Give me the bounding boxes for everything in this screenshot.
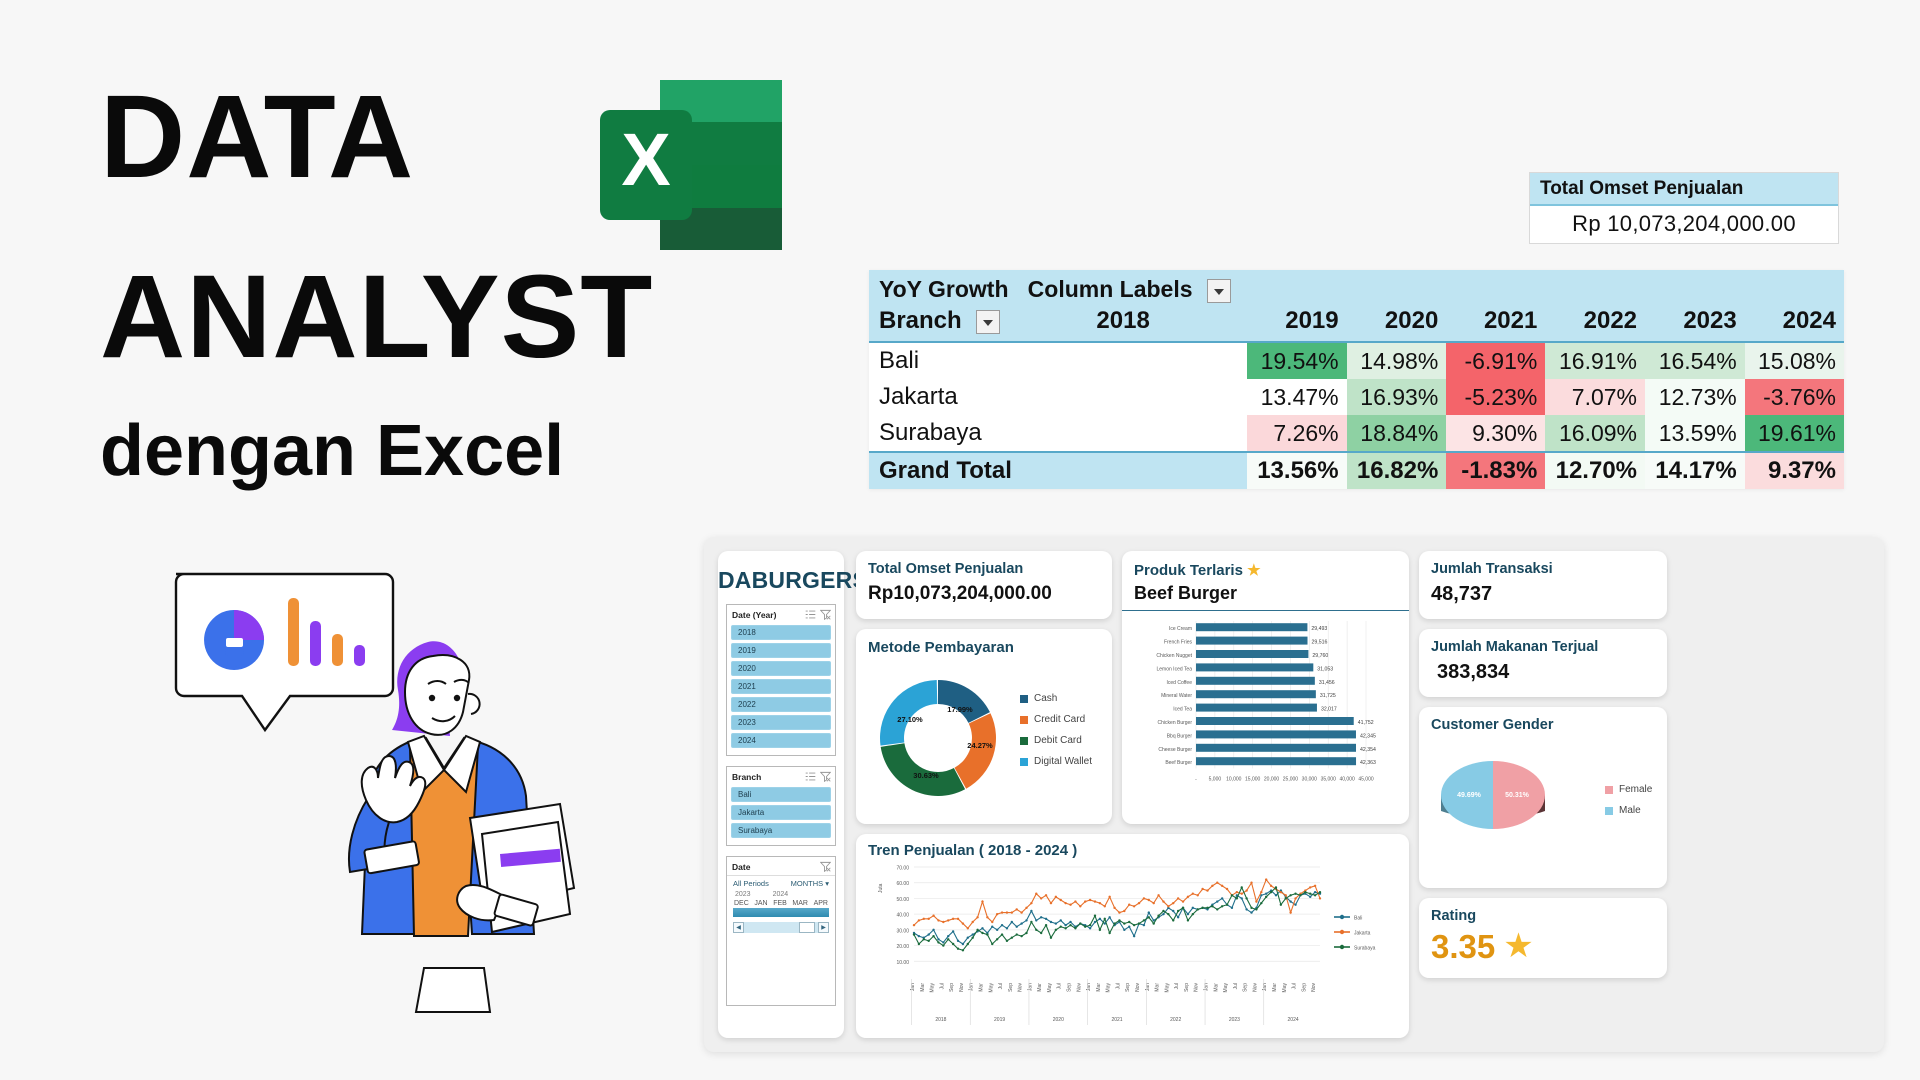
x-month-label: Jan xyxy=(910,983,916,991)
pivot-value-cell: 18.84% xyxy=(1347,415,1447,452)
x-month-label: Sep xyxy=(1008,983,1014,992)
x-month-label: Jan xyxy=(1262,983,1268,991)
data-point xyxy=(1319,897,1321,899)
data-point xyxy=(962,943,964,945)
data-point xyxy=(1177,910,1179,912)
legend-item: Debit Card xyxy=(1020,735,1092,746)
data-point xyxy=(1079,922,1081,924)
data-point xyxy=(1030,902,1032,904)
pivot-value-cell xyxy=(1086,415,1247,452)
data-point xyxy=(1025,919,1027,921)
data-point xyxy=(942,944,944,946)
horizontal-bar-chart: Ice Cream29,493French Fries29,516Chicken… xyxy=(1134,615,1397,815)
data-point xyxy=(1270,891,1272,893)
pivot-corner-label: YoY Growth Column Labels xyxy=(869,270,1247,305)
data-point xyxy=(1260,891,1262,893)
data-point xyxy=(991,921,993,923)
pivot-value-cell: 12.73% xyxy=(1645,379,1745,415)
data-point xyxy=(1123,910,1125,912)
data-point xyxy=(1201,907,1203,909)
data-point xyxy=(1108,916,1110,918)
slicer-item[interactable]: 2021 xyxy=(731,679,831,694)
x-month-label: Sep xyxy=(1067,983,1073,992)
x-month-label: Sep xyxy=(1184,983,1190,992)
x-tick-label: 15,000 xyxy=(1245,776,1261,782)
data-point xyxy=(1280,904,1282,906)
data-point xyxy=(971,921,973,923)
legend-label: Credit Card xyxy=(1034,714,1085,725)
pivot-value-cell: 13.59% xyxy=(1645,415,1745,452)
y-tick-label: 20.00 xyxy=(896,944,909,950)
timeline-month[interactable]: MAR xyxy=(792,900,808,907)
total-omset-value: Rp 10,073,204,000.00 xyxy=(1530,206,1838,237)
slicer-panel: DABURGERS Date (Year)2018201920202021202… xyxy=(718,551,844,1038)
daburgers-dashboard: DABURGERS Date (Year)2018201920202021202… xyxy=(704,537,1884,1052)
line-series xyxy=(914,880,1320,929)
x-month-label: May xyxy=(988,983,994,993)
slicer-item[interactable]: 2018 xyxy=(731,625,831,640)
data-point xyxy=(1094,900,1096,902)
legend-label: Cash xyxy=(1034,693,1057,704)
pivot-value-cell: 13.47% xyxy=(1247,379,1347,415)
data-point xyxy=(1270,885,1272,887)
data-point xyxy=(1226,904,1228,906)
pie-value-label: 49.69% xyxy=(1457,792,1482,799)
donut-chart: 17.99%24.27%30.63%27.10% xyxy=(868,660,1016,810)
data-point xyxy=(1167,905,1169,907)
y-tick-label: 30.00 xyxy=(896,928,909,934)
data-point xyxy=(1216,908,1218,910)
data-point xyxy=(1157,894,1159,896)
legend-item: Cash xyxy=(1020,693,1092,704)
data-point xyxy=(1020,922,1022,924)
x-month-label: Nov xyxy=(1311,983,1317,992)
x-month-label: Mar xyxy=(920,983,926,992)
timeline-month[interactable]: FEB xyxy=(773,900,787,907)
legend-swatch xyxy=(1020,737,1028,745)
x-month-label: Jan xyxy=(969,983,975,991)
x-tick-label: - xyxy=(1195,776,1197,782)
x-month-label: Jul xyxy=(1292,983,1298,989)
x-year-label: 2022 xyxy=(1170,1017,1181,1023)
bar-category-label: Mineral Water xyxy=(1161,693,1192,699)
hero-title-line1: DATA xyxy=(100,78,414,196)
x-year-label: 2018 xyxy=(935,1017,946,1023)
data-point xyxy=(1245,889,1247,891)
data-point xyxy=(923,938,925,940)
data-point xyxy=(1221,885,1223,887)
date-slicer-granularity[interactable]: MONTHS ▾ xyxy=(791,879,829,888)
timeline-scroll-knob[interactable] xyxy=(799,922,815,933)
bar-category-label: Ice Cream xyxy=(1169,626,1192,632)
data-point xyxy=(1079,905,1081,907)
data-point xyxy=(1045,918,1047,920)
pivot-value-cell xyxy=(1086,452,1247,489)
data-point xyxy=(976,929,978,931)
legend-label: Jakarta xyxy=(1354,931,1371,937)
data-point xyxy=(1064,924,1066,926)
data-point xyxy=(1113,922,1115,924)
slicer-item[interactable]: Jakarta xyxy=(731,805,831,820)
kpi-jumlah-transaksi-value: 48,737 xyxy=(1431,583,1655,606)
data-point xyxy=(986,916,988,918)
pivot-value-cell: 19.54% xyxy=(1247,342,1347,379)
data-point xyxy=(1040,932,1042,934)
pivot-value-cell: 9.37% xyxy=(1745,452,1844,489)
data-point xyxy=(1099,902,1101,904)
donut-value-label: 17.99% xyxy=(947,705,973,714)
data-point xyxy=(1128,921,1130,923)
x-month-label: Sep xyxy=(1301,983,1307,992)
data-point xyxy=(1094,915,1096,917)
data-point xyxy=(1089,927,1091,929)
timeline-scroll-left[interactable]: ◀ xyxy=(733,922,744,933)
pie-chart-3d: 50.31%49.69% xyxy=(1431,745,1603,865)
kpi-jumlah-transaksi: Jumlah Transaksi 48,737 xyxy=(1419,551,1667,619)
data-point xyxy=(1050,937,1052,939)
x-month-label: May xyxy=(1164,983,1170,993)
multi-select-icon[interactable] xyxy=(805,609,816,620)
slicer-date-year[interactable]: Date (Year)2018201920202021202220232024 xyxy=(726,604,836,756)
data-point xyxy=(1006,911,1008,913)
data-point xyxy=(1172,902,1174,904)
x-month-label: May xyxy=(1106,983,1112,993)
legend-label: Digital Wallet xyxy=(1034,756,1092,767)
x-year-label: 2024 xyxy=(1288,1017,1299,1023)
timeline-month[interactable]: JAN xyxy=(754,900,767,907)
data-point xyxy=(1177,897,1179,899)
data-point xyxy=(981,927,983,929)
y-tick-label: 50.00 xyxy=(896,897,909,903)
chart-metode-pembayaran: Metode Pembayaran 17.99%24.27%30.63%27.1… xyxy=(856,629,1112,824)
data-point xyxy=(1064,927,1066,929)
y-tick-label: 40.00 xyxy=(896,913,909,919)
slicer-item[interactable]: 2022 xyxy=(731,697,831,712)
legend-label: Surabaya xyxy=(1354,946,1376,952)
data-point xyxy=(957,940,959,942)
bar-chart-icon xyxy=(288,598,299,666)
x-month-label: Jul xyxy=(1115,983,1121,989)
legend-swatch xyxy=(1605,807,1613,815)
data-point xyxy=(1118,911,1120,913)
data-point xyxy=(1123,929,1125,931)
x-year-label: 2023 xyxy=(1229,1017,1240,1023)
x-month-label: May xyxy=(1223,983,1229,993)
multi-select-icon[interactable] xyxy=(805,771,816,782)
data-point xyxy=(1148,899,1150,901)
bar-value-label: 42,354 xyxy=(1360,747,1376,753)
bar-category-label: Iced Tea xyxy=(1173,707,1192,713)
data-point xyxy=(1245,908,1247,910)
data-point xyxy=(971,937,973,939)
slicer-item[interactable]: 2020 xyxy=(731,661,831,676)
x-month-label: Nov xyxy=(1018,983,1024,992)
bar-value-label: 42,345 xyxy=(1360,733,1376,739)
x-tick-label: 10,000 xyxy=(1226,776,1242,782)
legend-marker xyxy=(1340,945,1344,949)
data-point xyxy=(1162,900,1164,902)
table-row: Surabaya7.26%18.84%9.30%16.09%13.59%19.6… xyxy=(869,415,1844,452)
donut-value-label: 27.10% xyxy=(897,715,923,724)
line-chart: 10.0020.0030.0040.0050.0060.0070.00JutaJ… xyxy=(868,859,1397,1037)
data-point xyxy=(1177,916,1179,918)
x-month-label: Mar xyxy=(1272,983,1278,992)
data-point xyxy=(1084,900,1086,902)
excel-logo-letter: X xyxy=(621,118,670,201)
data-point xyxy=(957,918,959,920)
bar xyxy=(1196,757,1356,765)
x-month-label: May xyxy=(1282,983,1288,993)
legend-swatch xyxy=(1020,716,1028,724)
y-tick-label: 70.00 xyxy=(896,866,909,872)
x-month-label: Jul xyxy=(1057,983,1063,989)
bar-category-label: Bbq Burger xyxy=(1167,733,1193,739)
data-point xyxy=(1050,921,1052,923)
illustration-analyst xyxy=(170,568,600,1018)
pivot-year-2020: 2020 xyxy=(1347,305,1447,342)
pivot-value-cell xyxy=(1086,342,1247,379)
legend-item: Female xyxy=(1605,784,1652,795)
x-month-label: Jul xyxy=(1233,983,1239,989)
data-point xyxy=(947,919,949,921)
y-axis-label: Juta xyxy=(878,883,884,893)
bar-value-label: 31,456 xyxy=(1319,680,1335,686)
bar xyxy=(1196,677,1315,685)
data-point xyxy=(1162,910,1164,912)
data-point xyxy=(952,930,954,932)
data-point xyxy=(1025,907,1027,909)
data-point xyxy=(1113,907,1115,909)
data-point xyxy=(967,943,969,945)
clear-filter-icon[interactable] xyxy=(820,861,831,872)
data-point xyxy=(1314,885,1316,887)
hero-title-line2: ANALYST xyxy=(100,258,653,376)
data-point xyxy=(1035,929,1037,931)
data-point xyxy=(1289,894,1291,896)
data-point xyxy=(1182,907,1184,909)
clear-filter-icon[interactable] xyxy=(820,771,831,782)
chart-tren-penjualan: Tren Penjualan ( 2018 - 2024 ) 10.0020.0… xyxy=(856,834,1409,1038)
slicer-item[interactable]: Bali xyxy=(731,787,831,802)
x-tick-label: 40,000 xyxy=(1339,776,1355,782)
data-point xyxy=(1133,935,1135,937)
x-tick-label: 5,000 xyxy=(1209,776,1222,782)
data-point xyxy=(1128,926,1130,928)
bar-category-label: Beef Burger xyxy=(1165,760,1192,766)
timeline-scrollbar[interactable]: ◀ ▶ xyxy=(733,922,829,933)
data-point xyxy=(1216,882,1218,884)
data-point xyxy=(1309,896,1311,898)
dashboard-brand: DABURGERS xyxy=(718,551,844,604)
data-point xyxy=(1285,894,1287,896)
data-point xyxy=(1289,911,1291,913)
data-point xyxy=(1192,913,1194,915)
data-point xyxy=(1040,916,1042,918)
data-point xyxy=(1231,894,1233,896)
data-point xyxy=(1255,908,1257,910)
legend-label: Debit Card xyxy=(1034,735,1082,746)
data-point xyxy=(1285,897,1287,899)
slicer-item[interactable]: Surabaya xyxy=(731,823,831,838)
slicer-item[interactable]: 2024 xyxy=(731,733,831,748)
total-omset-card: Total Omset Penjualan Rp 10,073,204,000.… xyxy=(1529,172,1839,244)
data-point xyxy=(1201,888,1203,890)
data-point xyxy=(1074,900,1076,902)
kpi-jumlah-makanan-label: Jumlah Makanan Terjual xyxy=(1431,639,1655,655)
pivot-value-cell: 16.82% xyxy=(1347,452,1447,489)
data-point xyxy=(1187,913,1189,915)
slicer-item[interactable]: 2019 xyxy=(731,643,831,658)
legend-label: Bali xyxy=(1354,916,1362,922)
x-month-label: Sep xyxy=(1243,983,1249,992)
data-point xyxy=(1001,933,1003,935)
y-tick-label: 10.00 xyxy=(896,960,909,966)
chart-customer-gender-title: Customer Gender xyxy=(1431,717,1655,733)
pivot-year-2018: 2018 xyxy=(1086,305,1247,342)
data-point xyxy=(1011,937,1013,939)
data-point xyxy=(996,938,998,940)
data-point xyxy=(1265,878,1267,880)
table-row: Grand Total13.56%16.82%-1.83%12.70%14.17… xyxy=(869,452,1844,489)
data-point xyxy=(962,949,964,951)
data-point xyxy=(1060,926,1062,928)
data-point xyxy=(1069,904,1071,906)
table-row: Bali19.54%14.98%-6.91%16.91%16.54%15.08% xyxy=(869,342,1844,379)
x-month-label: Sep xyxy=(1125,983,1131,992)
data-point xyxy=(1108,932,1110,934)
data-point xyxy=(1084,926,1086,928)
pivot-value-cell: -6.91% xyxy=(1446,342,1545,379)
date-timeline-slicer[interactable]: Date All Periods MONTHS ▾ 2023 2024 DECJ… xyxy=(726,856,836,1006)
x-month-label: Nov xyxy=(1252,983,1258,992)
x-month-label: Mar xyxy=(1155,983,1161,992)
data-point xyxy=(1016,926,1018,928)
data-point xyxy=(1069,924,1071,926)
x-month-label: Nov xyxy=(959,983,965,992)
data-point xyxy=(913,924,915,926)
data-point xyxy=(1255,900,1257,902)
data-point xyxy=(1148,911,1150,913)
bar-value-label: 29,760 xyxy=(1312,653,1328,659)
data-point xyxy=(1104,918,1106,920)
clear-filter-icon[interactable] xyxy=(820,609,831,620)
data-point xyxy=(952,943,954,945)
pivot-value-cell: 14.17% xyxy=(1645,452,1745,489)
data-point xyxy=(1128,904,1130,906)
data-point xyxy=(1172,910,1174,912)
timeline-scroll-right[interactable]: ▶ xyxy=(818,922,829,933)
data-point xyxy=(947,938,949,940)
data-point xyxy=(1162,913,1164,915)
x-tick-label: 30,000 xyxy=(1302,776,1318,782)
data-point xyxy=(1187,919,1189,921)
data-point xyxy=(937,938,939,940)
bar xyxy=(1196,650,1308,658)
data-point xyxy=(1011,911,1013,913)
bar-category-label: Chicken Nugget xyxy=(1156,653,1192,659)
data-point xyxy=(1197,894,1199,896)
bar xyxy=(1196,690,1316,698)
pivot-year-2019: 2019 xyxy=(1247,305,1347,342)
data-point xyxy=(1064,902,1066,904)
data-point xyxy=(991,926,993,928)
pivot-value-cell: 16.09% xyxy=(1545,415,1645,452)
data-point xyxy=(1001,924,1003,926)
donut-slice xyxy=(880,680,937,746)
kpi-jumlah-makanan-value: 383,834 xyxy=(1431,661,1655,684)
data-point xyxy=(981,932,983,934)
data-point xyxy=(1260,902,1262,904)
data-point xyxy=(932,935,934,937)
column-labels-filter-button[interactable] xyxy=(1207,279,1231,303)
x-month-label: Mar xyxy=(978,983,984,992)
data-point xyxy=(1074,927,1076,929)
y-tick-label: 60.00 xyxy=(896,881,909,887)
kpi-total-omset: Total Omset Penjualan Rp10,073,204,000.0… xyxy=(856,551,1112,619)
total-omset-header: Total Omset Penjualan xyxy=(1530,173,1838,206)
pivot-value-cell: 7.07% xyxy=(1545,379,1645,415)
x-month-label: Jul xyxy=(939,983,945,989)
data-point xyxy=(1035,919,1037,921)
timeline-month[interactable]: DEC xyxy=(734,900,749,907)
bar-value-label: 29,493 xyxy=(1311,626,1327,632)
slicer-title: Branch xyxy=(732,772,761,782)
pivot-value-cell: 13.56% xyxy=(1247,452,1347,489)
data-point xyxy=(1172,919,1174,921)
data-point xyxy=(962,922,964,924)
data-point xyxy=(1241,893,1243,895)
table-row: Jakarta13.47%16.93%-5.23%7.07%12.73%-3.7… xyxy=(869,379,1844,415)
data-point xyxy=(1157,915,1159,917)
data-point xyxy=(913,933,915,935)
bar xyxy=(1196,730,1356,738)
data-point xyxy=(986,933,988,935)
date-slicer-all-periods: All Periods xyxy=(733,879,769,888)
data-point xyxy=(1265,896,1267,898)
legend-label: Male xyxy=(1619,805,1641,816)
data-point xyxy=(1094,921,1096,923)
branch-filter-button[interactable] xyxy=(976,310,1000,334)
bar xyxy=(1196,704,1317,712)
data-point xyxy=(1241,886,1243,888)
data-point xyxy=(937,919,939,921)
bar-value-label: 42,363 xyxy=(1360,760,1376,766)
slicer-item[interactable]: 2023 xyxy=(731,715,831,730)
legend-item: Digital Wallet xyxy=(1020,756,1092,767)
data-point xyxy=(932,915,934,917)
donut-slice xyxy=(938,680,990,723)
x-tick-label: 25,000 xyxy=(1283,776,1299,782)
divider xyxy=(1122,610,1409,611)
pivot-value-cell: 16.93% xyxy=(1347,379,1447,415)
data-point xyxy=(927,940,929,942)
data-point xyxy=(1314,891,1316,893)
legend-label: Female xyxy=(1619,784,1652,795)
data-point xyxy=(918,919,920,921)
data-point xyxy=(1016,933,1018,935)
timeline-selection-bar[interactable] xyxy=(733,908,829,917)
data-point xyxy=(1192,907,1194,909)
kpi-rating-label: Rating xyxy=(1431,908,1655,924)
donut-value-label: 30.63% xyxy=(913,771,939,780)
pivot-branch-cell: Grand Total xyxy=(869,452,1086,489)
chart-tren-penjualan-title: Tren Penjualan ( 2018 - 2024 ) xyxy=(868,842,1397,859)
pivot-value-cell xyxy=(1086,379,1247,415)
chart-metode-pembayaran-title: Metode Pembayaran xyxy=(868,639,1100,656)
slicer-branch[interactable]: BranchBaliJakartaSurabaya xyxy=(726,766,836,846)
data-point xyxy=(1309,893,1311,895)
timeline-month[interactable]: APR xyxy=(814,900,828,907)
